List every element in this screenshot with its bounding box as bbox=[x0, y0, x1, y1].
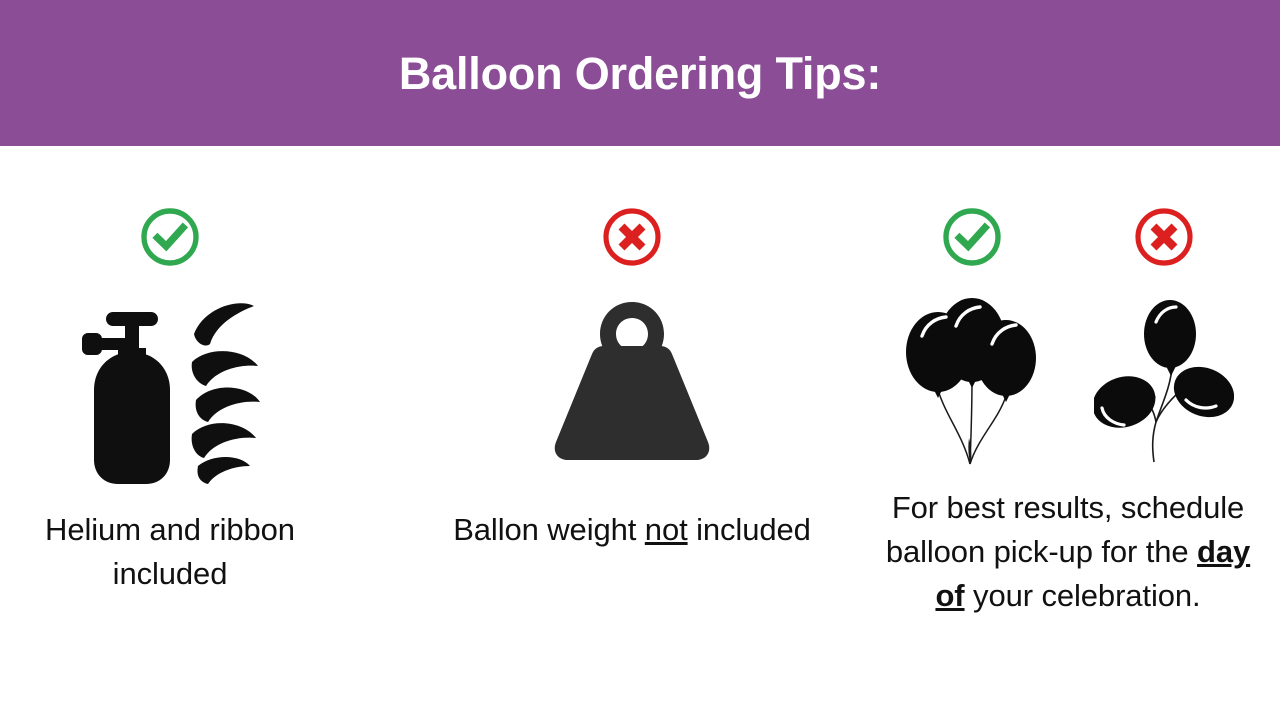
inflated-balloons-icon bbox=[902, 296, 1042, 471]
slide-balloon-ordering-tips: Balloon Ordering Tips: bbox=[0, 0, 1280, 720]
badge-row-pickup bbox=[856, 206, 1280, 268]
tips-row: Helium and ribbon included bbox=[0, 146, 1280, 720]
cross-circle-icon bbox=[601, 206, 663, 268]
caption-segment: Ballon weight bbox=[453, 512, 645, 547]
header-bar: Balloon Ordering Tips: bbox=[0, 0, 1280, 146]
artwork-row-helium bbox=[0, 296, 340, 488]
check-circle-icon bbox=[139, 206, 201, 268]
page-title: Balloon Ordering Tips: bbox=[399, 51, 881, 96]
caption-pickup-timing: For best results, schedule balloon pick-… bbox=[856, 486, 1280, 618]
badge-row-weight bbox=[420, 206, 844, 268]
weight-icon bbox=[542, 296, 722, 466]
badge-row-helium bbox=[0, 206, 340, 268]
caption-segment: your celebration. bbox=[965, 578, 1201, 613]
deflated-balloons-icon bbox=[1094, 296, 1234, 471]
helium-tank-icon bbox=[74, 308, 186, 488]
tip-column-helium-ribbon: Helium and ribbon included bbox=[0, 146, 340, 720]
tip-column-pickup-timing: For best results, schedule balloon pick-… bbox=[856, 146, 1280, 720]
caption-segment: Helium and ribbon included bbox=[45, 512, 295, 591]
caption-segment: For best results, schedule balloon pick-… bbox=[886, 490, 1244, 569]
cross-circle-icon bbox=[1133, 206, 1195, 268]
artwork-row-pickup bbox=[856, 296, 1280, 471]
caption-segment: included bbox=[688, 512, 811, 547]
artwork-row-weight bbox=[420, 296, 844, 466]
tip-column-balloon-weight: Ballon weight not included bbox=[420, 146, 844, 720]
curling-ribbon-icon bbox=[186, 296, 266, 488]
caption-balloon-weight: Ballon weight not included bbox=[420, 508, 844, 552]
caption-helium-ribbon: Helium and ribbon included bbox=[0, 508, 340, 596]
check-circle-icon bbox=[941, 206, 1003, 268]
caption-segment-underlined: not bbox=[645, 512, 688, 547]
